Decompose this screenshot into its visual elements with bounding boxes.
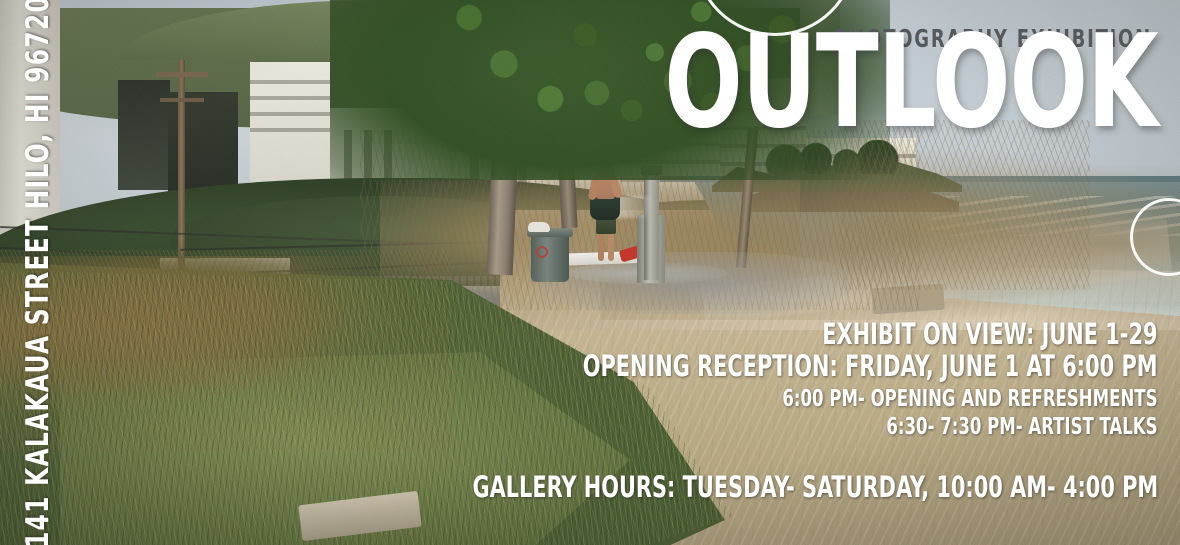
person-leg-left <box>598 233 604 261</box>
page-title: OUTLOOK <box>665 28 1158 138</box>
overflow-trash <box>528 222 550 232</box>
trash-bin <box>531 232 569 282</box>
venue-address: 141 KALAKAUA STREET HILO, HI 96720 <box>20 78 56 545</box>
pole-crossarm-upper <box>156 72 208 77</box>
detail-schedule-opening: 6:00 PM- OPENING AND REFRESHMENTS <box>583 385 1158 413</box>
gallery-hours-text: GALLERY HOURS: TUESDAY- SATURDAY, 10:00 … <box>472 472 1158 504</box>
water-spray <box>615 196 651 218</box>
trash-bin-emblem <box>536 246 548 258</box>
poster-canvas: PHOTOGRAPHY EXHIBITION OUTLOOK EXHIBIT O… <box>0 0 1180 545</box>
detail-opening-reception: OPENING RECEPTION: FRIDAY, JUNE 1 AT 6:0… <box>583 350 1158 382</box>
pole-crossarm-lower <box>160 98 204 102</box>
address-block: 141 KALAKAUA STREET HILO, HI 96720 <box>20 0 64 545</box>
event-details: EXHIBIT ON VIEW: JUNE 1-29 OPENING RECEP… <box>439 318 1158 441</box>
gallery-hours: GALLERY HOURS: TUESDAY- SATURDAY, 10:00 … <box>301 472 1158 504</box>
detail-schedule-artist-talks: 6:30- 7:30 PM- ARTIST TALKS <box>583 413 1158 441</box>
detail-exhibit-on-view: EXHIBIT ON VIEW: JUNE 1-29 <box>583 318 1158 350</box>
shower-post <box>644 172 659 280</box>
plant-structure-dark-1 <box>118 80 170 190</box>
person-leg-right <box>608 233 614 261</box>
